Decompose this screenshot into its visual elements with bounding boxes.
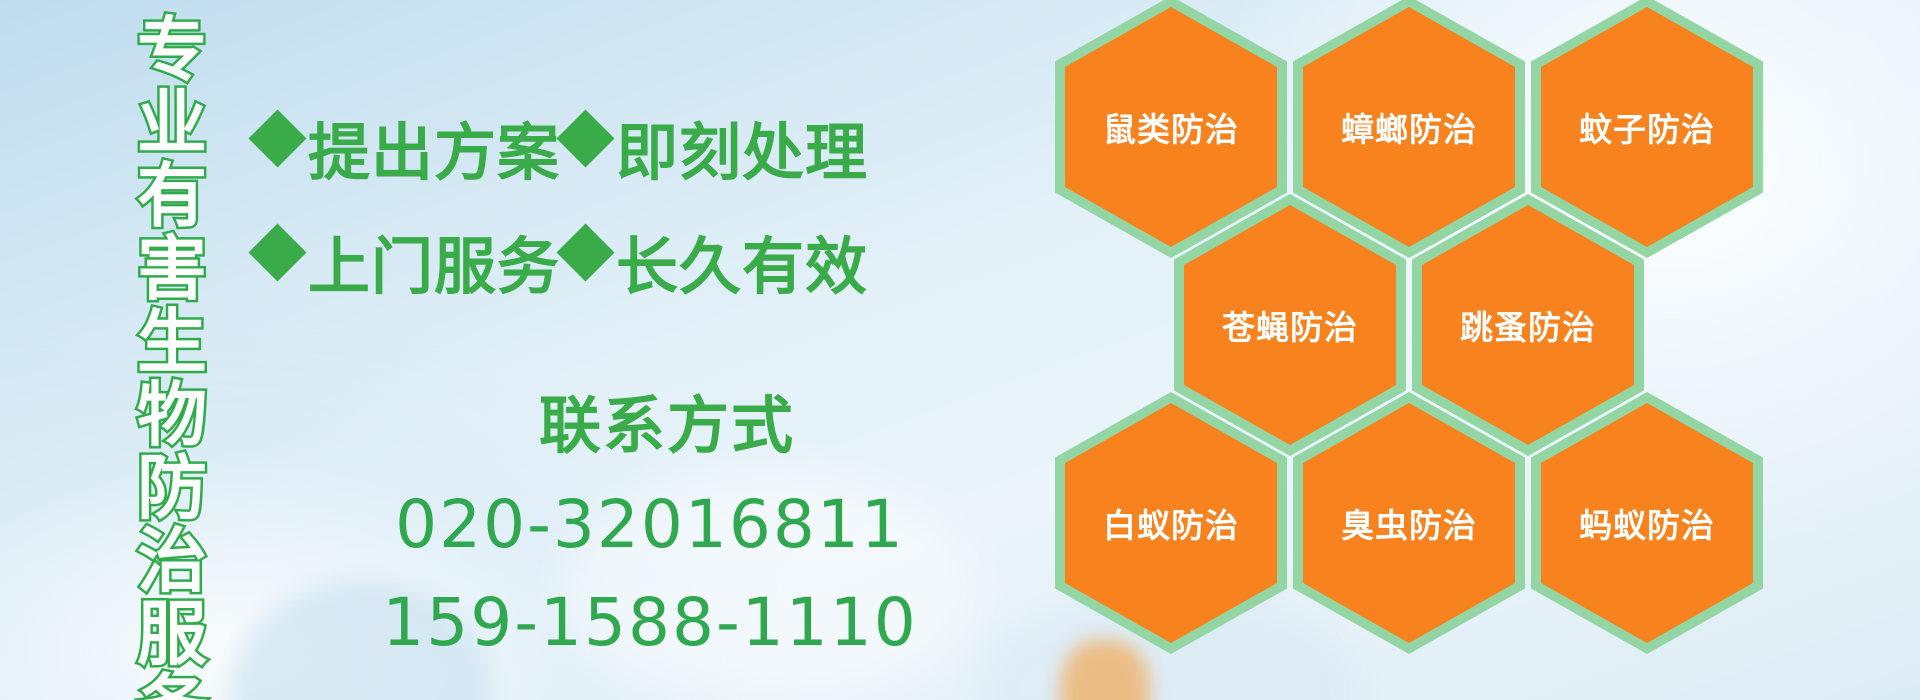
feature-list: 提出方案 即刻处理 上门服务 长久有效 [286,90,906,318]
service-label: 跳蚤防治 [1460,301,1596,349]
hexagon-inner: 臭虫防治 [1303,403,1515,643]
pest-control-banner: 专 业 有 害 生 物 防 治 服 务 提出方案 即刻处理 上门服务 长久有效 … [0,0,1920,700]
hexagon-inner: 鼠类防治 [1065,7,1277,247]
hexagon-inner: 蚊子防治 [1541,7,1753,247]
service-label: 苍蝇防治 [1222,301,1358,349]
vertical-headline-char: 业 [137,87,207,160]
vertical-headline-char: 害 [137,233,207,306]
service-label: 蟑螂防治 [1341,103,1477,151]
feature-row: 上门服务 长久有效 [286,204,906,318]
feature-label: 上门服务 [308,216,560,306]
vertical-headline-char: 物 [137,379,207,452]
phone-number-mobile[interactable]: 159-1588-1110 [300,574,1000,672]
service-hexagon-cluster: 鼠类防治 蟑螂防治 蚊子防治 苍蝇防治 跳蚤防治 白蚁防治 [1055,0,1795,682]
contact-title: 联系方式 [334,390,1000,462]
hexagon-inner: 苍蝇防治 [1184,205,1396,445]
service-label: 蚂蚁防治 [1579,499,1715,547]
hexagon-inner: 蟑螂防治 [1303,7,1515,247]
service-label: 蚊子防治 [1579,103,1715,151]
feature-label: 提出方案 [308,102,560,192]
vertical-headline-char: 有 [137,160,207,233]
vertical-headline-char: 务 [137,671,207,700]
phone-number-landline[interactable]: 020-32016811 [300,476,1000,574]
vertical-headline-char: 治 [137,525,207,598]
contact-block: 联系方式 020-32016811 159-1588-1110 [300,390,1000,672]
hexagon-inner: 白蚁防治 [1065,403,1277,643]
vertical-headline-char: 服 [137,598,207,671]
service-label: 白蚁防治 [1103,499,1239,547]
vertical-headline-char: 专 [137,14,207,87]
feature-row: 提出方案 即刻处理 [286,90,906,204]
feature-label: 长久有效 [616,216,868,306]
hexagon-inner: 蚂蚁防治 [1541,403,1753,643]
hexagon-inner: 跳蚤防治 [1422,205,1634,445]
service-label: 鼠类防治 [1103,103,1239,151]
feature-label: 即刻处理 [616,102,868,192]
service-label: 臭虫防治 [1341,499,1477,547]
vertical-headline: 专 业 有 害 生 物 防 治 服 务 [118,14,226,700]
vertical-headline-char: 生 [137,306,207,379]
vertical-headline-char: 防 [137,452,207,525]
